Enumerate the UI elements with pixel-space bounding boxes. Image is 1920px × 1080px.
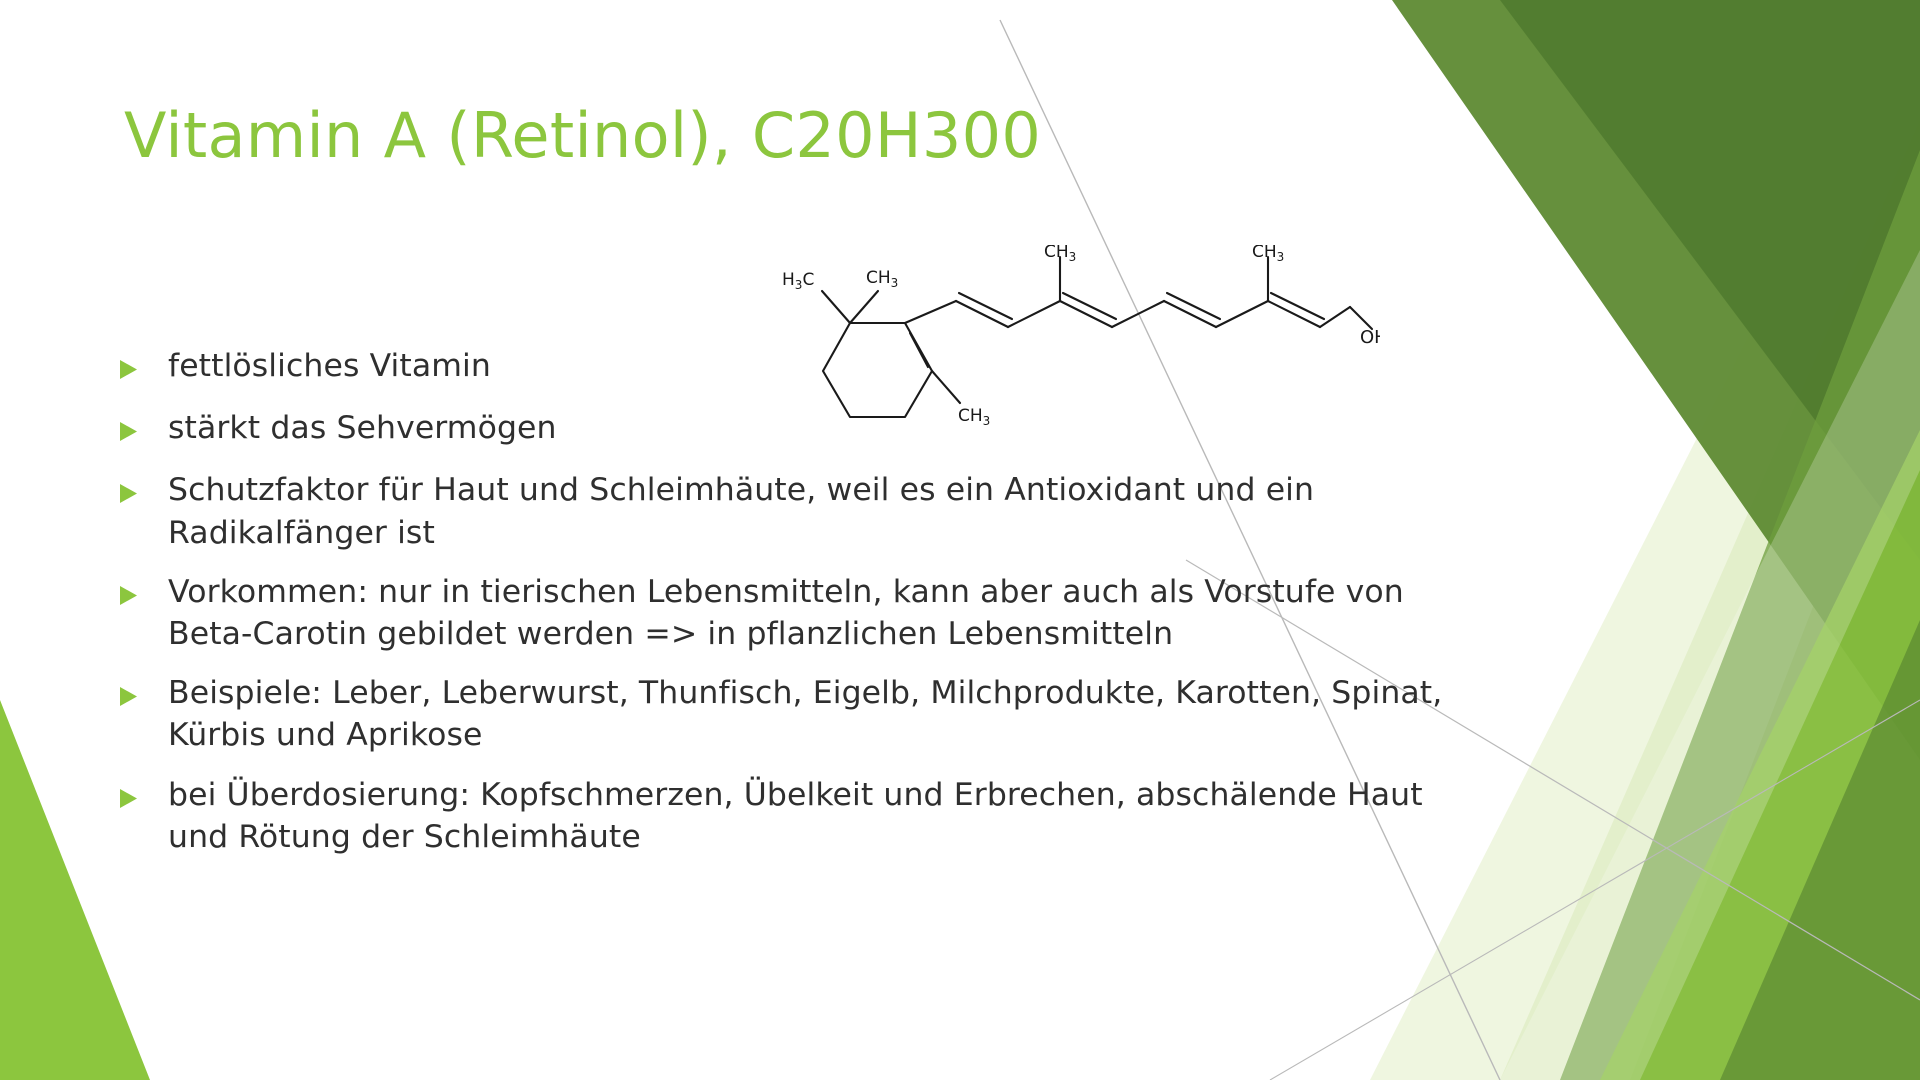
triangle-bullet-icon [118,788,142,809]
list-item: stärkt das Sehvermögen [118,407,1448,449]
triangle-bullet-icon [118,421,142,442]
list-item-text: stärkt das Sehvermögen [168,407,1448,449]
list-item-text: Vorkommen: nur in tierischen Lebensmitte… [168,571,1448,655]
list-item: Vorkommen: nur in tierischen Lebensmitte… [118,571,1448,655]
triangle-bullet-icon [118,686,142,707]
slide-canvas: Vitamin A (Retinol), C20H300 [0,0,1920,1080]
triangle-bullet-icon [118,359,142,380]
molecule-label-h3c: H3C [782,270,814,292]
triangle-bullet-icon [118,585,142,606]
list-item: Schutzfaktor für Haut und Schleimhäute, … [118,469,1448,553]
molecule-label-ch3-chain-1: CH3 [1044,245,1076,264]
triangle-bullet-icon [118,483,142,504]
list-item: bei Überdosierung: Kopfschmerzen, Übelke… [118,774,1448,858]
list-item-text: Beispiele: Leber, Leberwurst, Thunfisch,… [168,672,1448,756]
molecule-label-ch3-chain-2: CH3 [1252,245,1284,264]
list-item: fettlösliches Vitamin [118,345,1448,387]
list-item-text: Schutzfaktor für Haut und Schleimhäute, … [168,469,1448,553]
list-item-text: bei Überdosierung: Kopfschmerzen, Übelke… [168,774,1448,858]
molecule-label-ch3-inner: CH3 [866,268,898,290]
list-item-text: fettlösliches Vitamin [168,345,1448,387]
list-item: Beispiele: Leber, Leberwurst, Thunfisch,… [118,672,1448,756]
bullet-list: fettlösliches Vitamin stärkt das Sehverm… [118,345,1448,875]
page-title: Vitamin A (Retinol), C20H300 [124,102,1041,170]
